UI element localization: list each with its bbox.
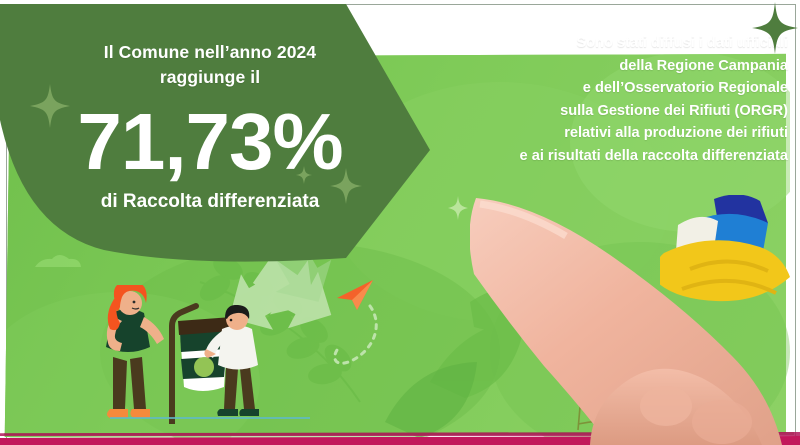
right-line-2: della Regione Campania [420,55,788,78]
ground-line-decor [110,417,310,419]
right-line-5: relativi alla produzione dei rifiuti [420,122,788,145]
headline-block: Il Comune nell’anno 2024 raggiunge il [40,40,380,90]
right-text-block: Sono stati diffusi i dati ufficiali dell… [420,32,798,167]
percentage-caption: di Raccolta differenziata [40,190,380,214]
sparkle-low-icon [448,196,468,220]
headline-line-1: Il Comune nell’anno 2024 [40,40,380,65]
right-line-1: Sono stati diffusi i dati ufficiali [420,32,788,55]
woman-figure [86,285,176,427]
sparkle-top-right-icon [752,2,798,54]
dotted-swirl-decor [325,300,385,380]
pointing-hand-photo [470,170,800,445]
right-line-4: sulla Gestione dei Rifiuti (ORGR) [420,100,788,123]
headline-line-2: raggiunge il [40,65,380,90]
right-line-3: e dell’Osservatorio Regionale [420,77,788,100]
right-line-6: e ai risultati della raccolta differenzi… [420,145,788,168]
big-percentage-value: 71,73% [40,100,380,184]
poster-root: Il Comune nell’anno 2024 raggiunge il 71… [0,0,800,445]
man-figure [204,305,274,425]
